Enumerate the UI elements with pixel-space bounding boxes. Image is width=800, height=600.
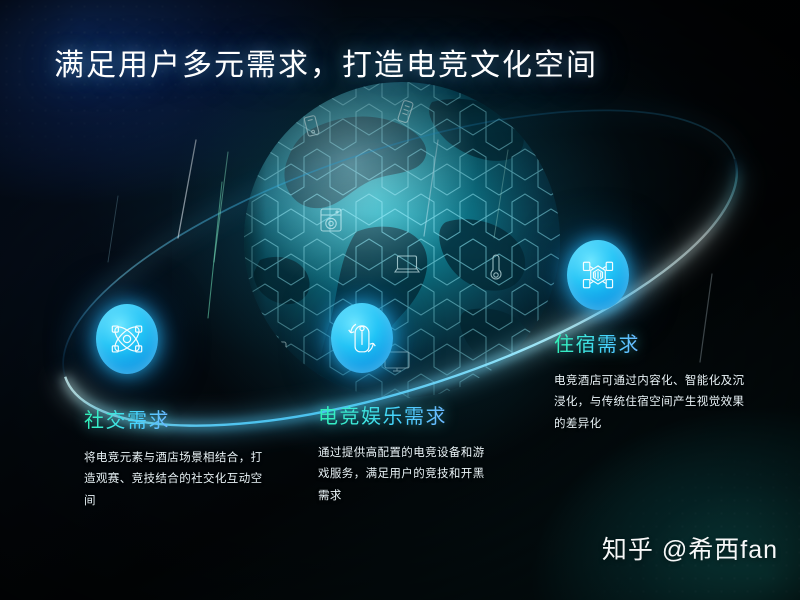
gaming-icon-bubble[interactable]: [331, 303, 393, 373]
node-gaming-title: 电竞娱乐需求: [318, 400, 447, 429]
node-social-desc: 将电竞元素与酒店场景相结合，打造观赛、竞技结合的社交化互动空间: [84, 448, 274, 512]
slide-canvas: 满足用户多元需求，打造电竞文化空间 社交需求 将电竞元素与酒店场景相结合，打造观…: [0, 0, 800, 600]
social-icon-bubble[interactable]: [96, 304, 158, 374]
node-gaming-desc: 通过提供高配置的电竞设备和游戏服务，满足用户的竞技和开黑需求: [318, 443, 496, 507]
node-social-title: 社交需求: [84, 404, 170, 433]
page-title: 满足用户多元需求，打造电竞文化空间: [54, 40, 598, 84]
node-stay-desc: 电竞酒店可通过内容化、智能化及沉浸化，与传统住宿空间产生视觉效果的差异化: [554, 371, 746, 435]
node-stay-title: 住宿需求: [554, 328, 640, 357]
watermark: 知乎 @希西fan: [602, 530, 778, 566]
network-nodes-icon: [108, 320, 146, 358]
hand-gamepad-refresh-icon: [343, 319, 381, 357]
smart-hub-hexagon-icon: [578, 255, 618, 295]
stay-icon-bubble[interactable]: [567, 240, 629, 310]
